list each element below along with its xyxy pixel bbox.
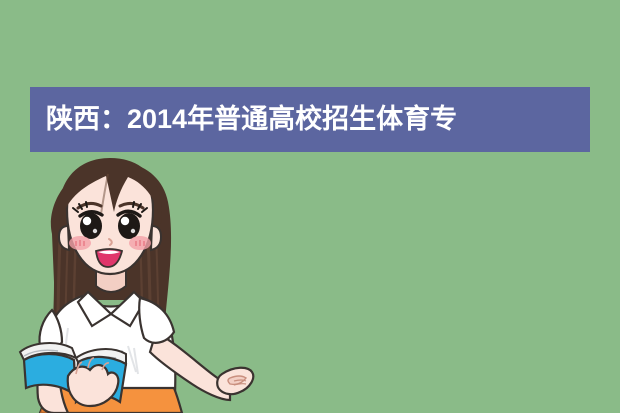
title-banner: 陕西：2014年普通高校招生体育专 — [30, 87, 590, 152]
sleeve-right — [139, 298, 174, 343]
page-title: 陕西：2014年普通高校招生体育专 — [30, 106, 457, 133]
schoolgirl-illustration — [16, 150, 266, 413]
blush-left — [69, 236, 91, 250]
poster-root: 陕西：2014年普通高校招生体育专 — [0, 0, 620, 413]
blush-right — [129, 236, 151, 250]
